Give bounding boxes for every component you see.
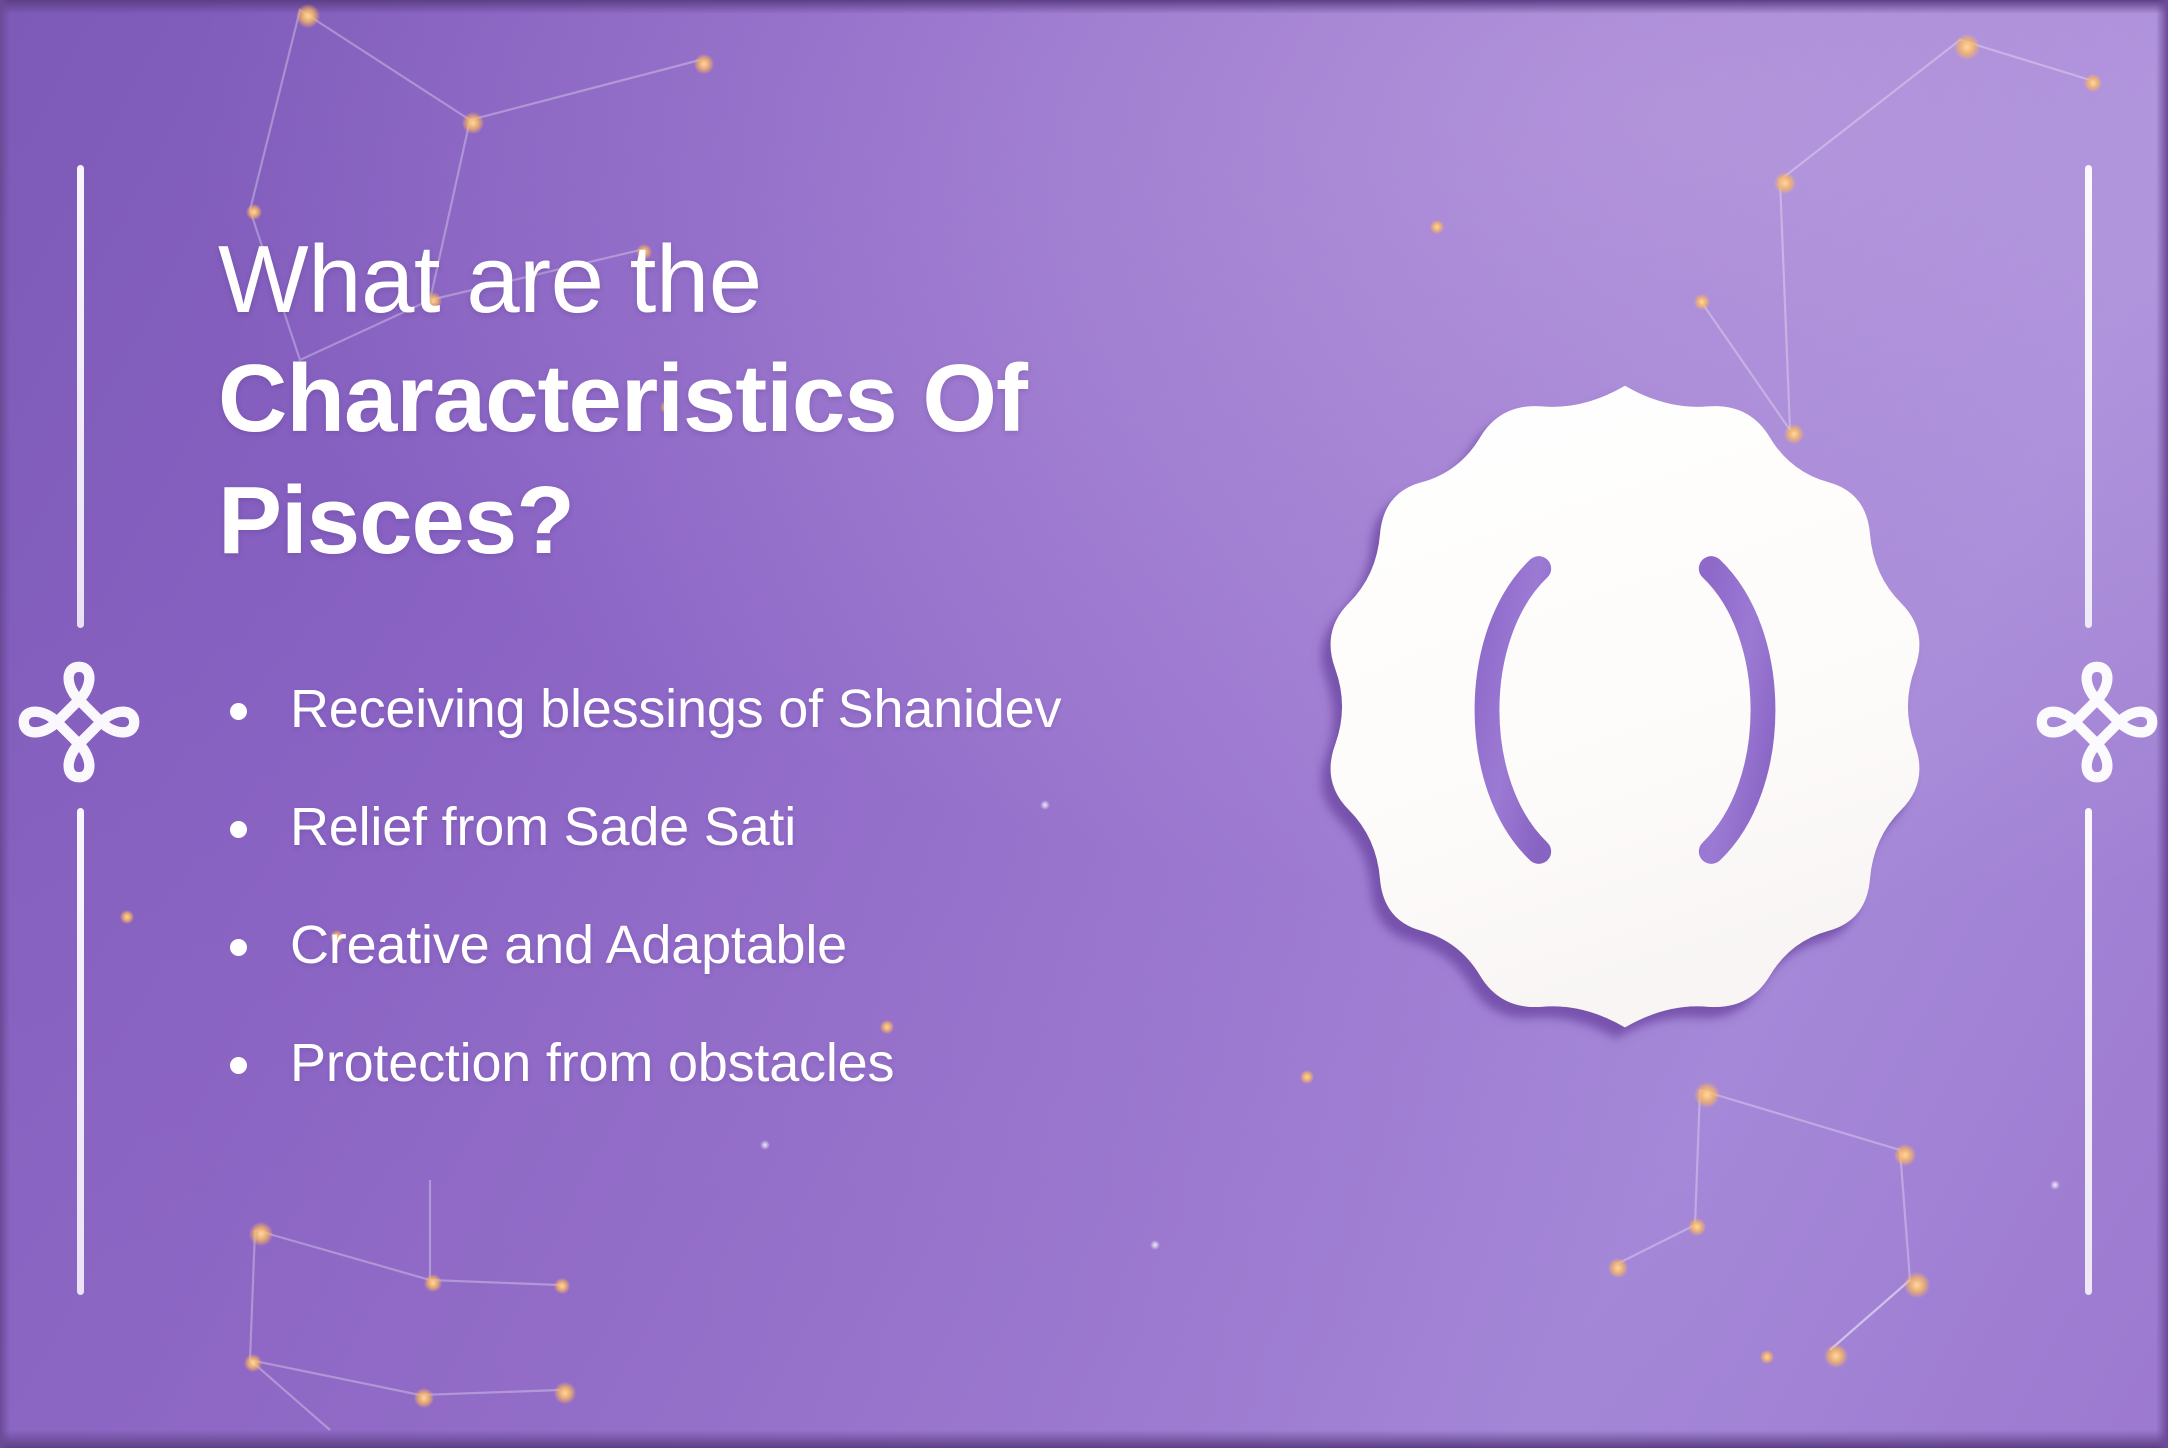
- characteristics-list: Receiving blessings of Shanidev Relief f…: [222, 650, 1152, 1122]
- list-item: Receiving blessings of Shanidev: [222, 650, 1152, 768]
- slide-canvas: What are the Characteristics Of Pisces? …: [0, 0, 2168, 1448]
- page-title: What are the Characteristics Of Pisces?: [218, 222, 1228, 582]
- title-line-1: What are the: [218, 222, 1228, 338]
- pisces-badge: [1280, 355, 1970, 1065]
- decorative-knot-ornament-right: [2028, 653, 2166, 791]
- title-line-3: Pisces?: [218, 460, 1228, 582]
- divider-left-upper: [77, 165, 84, 628]
- pisces-badge-svg: [1280, 355, 1970, 1065]
- divider-left-lower: [77, 808, 84, 1295]
- divider-right-upper: [2085, 165, 2092, 628]
- title-line-2: Characteristics Of: [218, 338, 1228, 460]
- list-item: Relief from Sade Sati: [222, 768, 1152, 886]
- list-item: Protection from obstacles: [222, 1004, 1152, 1122]
- list-item: Creative and Adaptable: [222, 886, 1152, 1004]
- decorative-knot-ornament-left: [10, 653, 148, 791]
- divider-right-lower: [2085, 808, 2092, 1295]
